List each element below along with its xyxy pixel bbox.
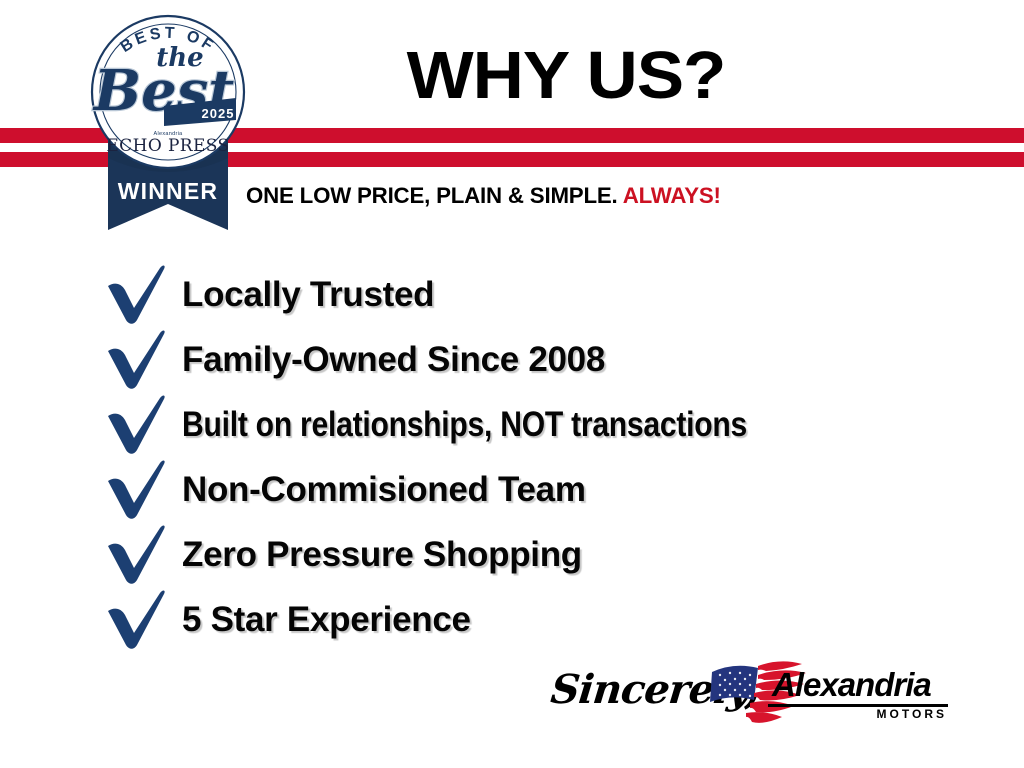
list-item: Built on relationships, NOT transactions [104,392,1004,457]
list-item: Zero Pressure Shopping [104,522,1004,587]
list-item: Non-Commisioned Team [104,457,1004,522]
checkmark-icon [104,524,182,586]
brand-subtitle: MOTORS [877,707,947,721]
list-item: 5 Star Experience [104,587,1004,652]
badge-publication: ECHO PRESS [106,136,229,156]
benefits-list: Locally Trusted Family-Owned Since 2008 … [104,262,1004,652]
alexandria-motors-logo: Alexandria MOTORS [706,658,956,733]
checkmark-icon [104,459,182,521]
subtitle-accent: ALWAYS! [623,183,721,208]
page-title: WHY US? [280,42,852,109]
checkmark-icon [104,264,182,326]
list-item-label: 5 Star Experience [182,600,471,640]
winner-ribbon-label: WINNER [118,178,218,204]
list-item: Family-Owned Since 2008 [104,327,1004,392]
badge-year: 2025 [202,106,235,121]
list-item-label: Non-Commisioned Team [182,470,586,510]
best-of-the-best-badge: WINNER BEST OF the Best 2025 Alexandria … [68,8,268,230]
subtitle: ONE LOW PRICE, PLAIN & SIMPLE. ALWAYS! [246,183,721,209]
list-item-label: Zero Pressure Shopping [182,535,582,575]
list-item-label: Built on relationships, NOT transactions [182,405,747,445]
brand-name: Alexandria [771,666,931,703]
list-item: Locally Trusted [104,262,1004,327]
list-item-label: Family-Owned Since 2008 [182,340,605,380]
list-item-label: Locally Trusted [182,275,434,315]
subtitle-main: ONE LOW PRICE, PLAIN & SIMPLE. [246,183,618,208]
checkmark-icon [104,329,182,391]
checkmark-icon [104,394,182,456]
checkmark-icon [104,589,182,651]
